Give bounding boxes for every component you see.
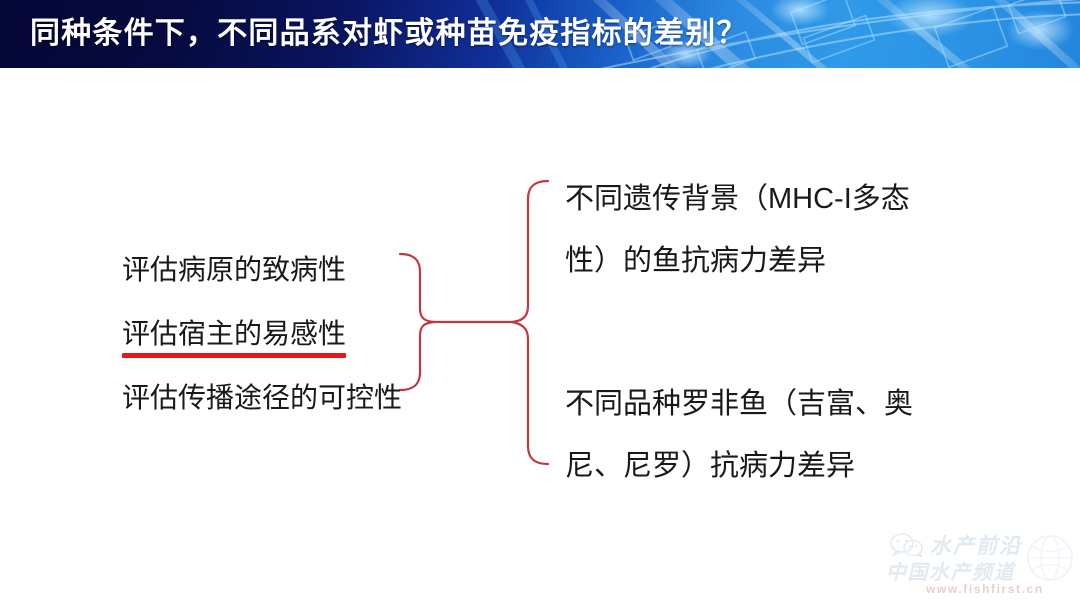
right-statement-1-line-2: 性）的鱼抗病力差异 xyxy=(565,230,945,292)
left-list-item-1: 评估病原的致病性 xyxy=(122,238,402,302)
right-curly-brace xyxy=(512,181,548,464)
right-statement-1: 不同遗传背景（MHC-I多态 性）的鱼抗病力差异 xyxy=(565,168,945,292)
wechat-icon xyxy=(890,533,924,557)
right-statement-2: 不同品种罗非鱼（吉富、奥 尼、尼罗）抗病力差异 xyxy=(565,373,945,497)
globe-icon xyxy=(1024,532,1076,584)
watermark-channel: 中国水产频道 xyxy=(886,556,1015,585)
watermark-url: www.fishfirst.cn xyxy=(926,582,1044,596)
right-statement-2-line-1: 不同品种罗非鱼（吉富、奥 xyxy=(565,373,945,435)
left-criteria-list: 评估病原的致病性 评估宿主的易感性 评估传播途径的可控性 xyxy=(122,238,402,430)
watermark: 水产前沿 中国水产频道 www.fishfirst.cn xyxy=(880,524,1080,608)
page-title: 同种条件下，不同品系对虾或种苗免疫指标的差别？ xyxy=(30,12,748,56)
left-list-item-2-highlighted: 评估宿主的易感性 xyxy=(122,302,402,366)
title-bar: 同种条件下，不同品系对虾或种苗免疫指标的差别？ xyxy=(0,0,1080,68)
left-curly-brace xyxy=(400,254,434,390)
right-statement-2-line-2: 尼、尼罗）抗病力差异 xyxy=(565,435,945,497)
slide-canvas: 同种条件下，不同品系对虾或种苗免疫指标的差别？ 评估病原的致病性 评估宿主的易感… xyxy=(0,0,1080,608)
right-statement-1-line-1: 不同遗传背景（MHC-I多态 xyxy=(565,168,945,230)
left-list-item-3: 评估传播途径的可控性 xyxy=(122,366,402,430)
